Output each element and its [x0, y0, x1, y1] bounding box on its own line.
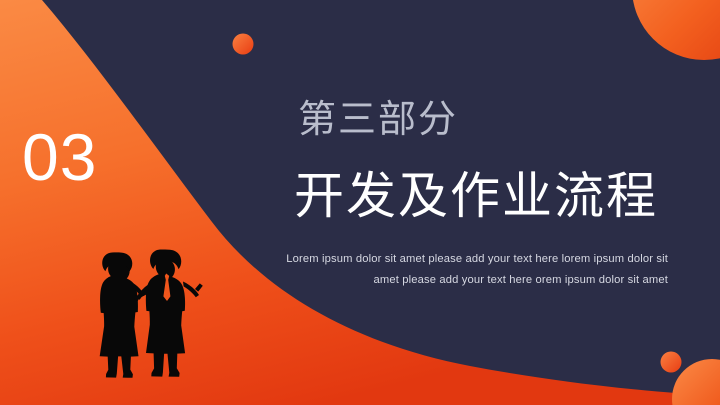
slide-subtitle: 第三部分: [298, 99, 458, 143]
body-text-line-1: Lorem ipsum dolor sit amet please add yo…: [268, 249, 668, 270]
presentation-slide: 03 第三部分 开发及作业流程 Lorem ipsum dolor sit am…: [0, 0, 720, 405]
page-title: 开发及作业流程: [294, 168, 658, 226]
small-orange-circle-top: [233, 34, 254, 55]
slide-body-text: Lorem ipsum dolor sit amet please add yo…: [268, 249, 668, 290]
small-orange-circle-bottom-right: [661, 352, 682, 373]
body-text-line-2: amet please add your text here orem ipsu…: [268, 270, 668, 291]
section-number: 03: [22, 124, 97, 190]
